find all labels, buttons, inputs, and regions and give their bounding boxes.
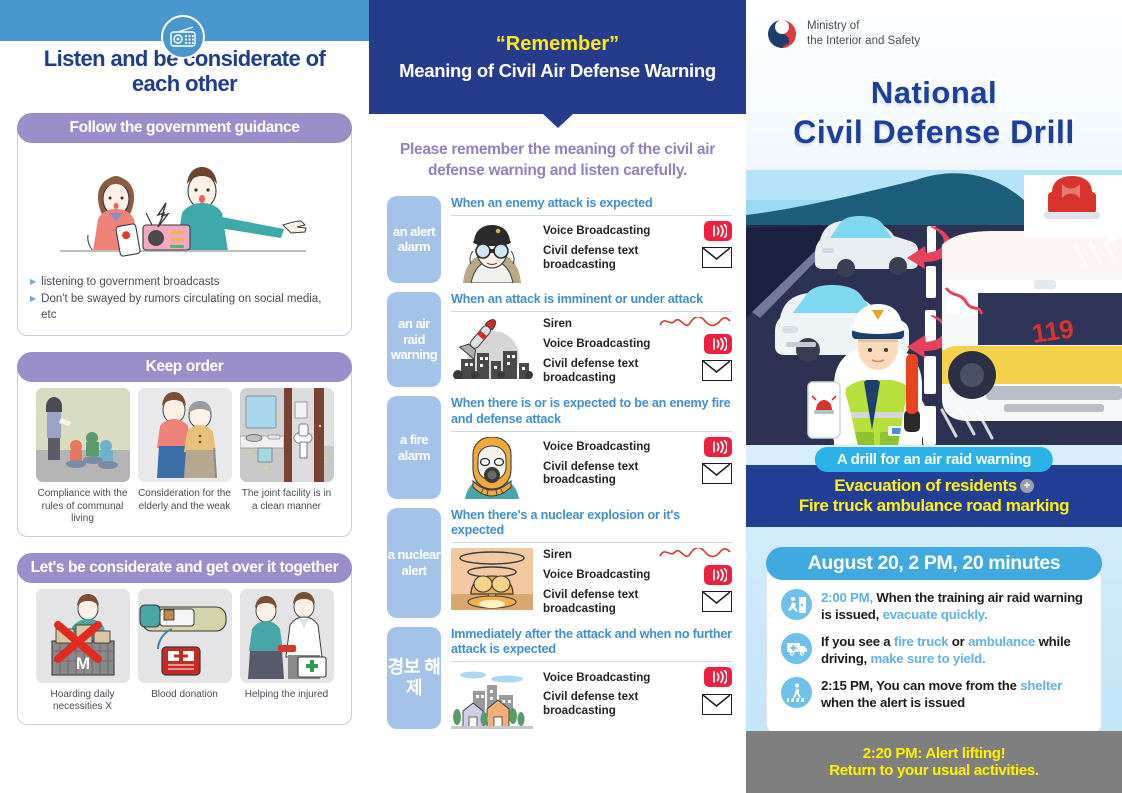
card-government-guidance: Follow the government guidance — [17, 113, 352, 337]
method-label: Voice Broadcasting — [543, 337, 698, 351]
person-in-gas-mask-illustration — [451, 437, 533, 499]
schedule-highlight: make sure to yield. — [871, 651, 986, 666]
image-caption: The joint facility is in a clean manner — [240, 488, 334, 513]
footer-line2: Return to your usual activities. — [829, 762, 1039, 779]
warning-type-chip: an alert alarm — [387, 196, 441, 283]
right-panel-title: National Civil Defense Drill — [746, 75, 1122, 151]
list-item: M Hoarding daily necessities X — [36, 589, 130, 714]
warning-type-chip: a fire alarm — [387, 396, 441, 498]
panel-drill-announcement: Ministry of the Interior and Safety Nati… — [746, 0, 1122, 793]
table-row: an alert alarm When an enemy attack is e… — [387, 196, 732, 283]
running-exit-icon — [781, 589, 812, 620]
schedule-date-pill: August 20, 2 PM, 20 minutes — [766, 547, 1102, 580]
method-label: Civil defense text broadcasting — [543, 357, 696, 384]
list-item: ▶ listening to government broadcasts — [30, 275, 339, 291]
table-row: 경보 해제 Immediately after the attack and w… — [387, 627, 732, 729]
card-body-considerate-together: M Hoarding daily necessities X — [17, 569, 352, 725]
list-item: Compliance with the rules of communal li… — [36, 388, 130, 526]
broadcast-method-list: Siren Voice Broadcasting — [543, 317, 732, 387]
list-item: 2:00 PM, When the training air raid warn… — [781, 589, 1087, 624]
schedule-highlight: ambulance — [968, 634, 1035, 649]
schedule-text: 2:15 PM, You can move from the shelter w… — [821, 677, 1087, 712]
keep-order-image-row: Compliance with the rules of communal li… — [30, 388, 339, 526]
schedule-list: 2:00 PM, When the training air raid warn… — [766, 566, 1102, 734]
card-header-keep-order: Keep order — [17, 352, 352, 382]
method-label: Voice Broadcasting — [543, 671, 698, 685]
card-keep-order: Keep order — [17, 352, 352, 537]
police-officer-directing-traffic-for-ambulance-illustration: 119 — [746, 170, 1122, 445]
schedule-highlight: 2:00 PM, — [821, 590, 873, 605]
card-body-government-guidance: ▶ listening to government broadcasts ▶ D… — [17, 129, 352, 337]
considerate-image-row: M Hoarding daily necessities X — [30, 589, 339, 714]
list-item: Voice Broadcasting — [543, 221, 732, 241]
doctor-treating-injured-illustration — [240, 589, 334, 683]
right-title-line2: Civil Defense Drill — [746, 114, 1122, 151]
plus-icon: + — [1020, 479, 1034, 493]
broadcast-method-list: Siren Voice Broadcasting — [543, 548, 732, 618]
left-panel-title-line2: each other — [16, 71, 353, 96]
middle-header-line2: Meaning of Civil Air Defense Warning — [399, 60, 716, 82]
voice-broadcast-icon — [704, 334, 732, 354]
list-item: Siren — [543, 317, 732, 331]
middle-panel-header: “Remember” Meaning of Civil Air Defense … — [369, 0, 746, 114]
middle-header-line1: “Remember” — [496, 33, 619, 56]
warning-condition-title: When an attack is imminent or under atta… — [451, 292, 732, 312]
envelope-icon — [702, 591, 732, 612]
warning-type-chip: a nuclear alert — [387, 508, 441, 619]
warning-condition-title: Immediately after the attack and when no… — [451, 627, 732, 662]
method-label: Voice Broadcasting — [543, 440, 698, 454]
list-item: Voice Broadcasting — [543, 667, 732, 687]
ministry-line1: Ministry of — [807, 19, 920, 34]
envelope-icon — [702, 694, 732, 715]
image-caption: Compliance with the rules of communal li… — [36, 488, 130, 526]
helping-elderly-woman-illustration — [138, 388, 232, 482]
schedule-highlight: evacuate quickly. — [883, 607, 988, 622]
image-caption: Consideration for the elderly and the we… — [138, 488, 232, 513]
pedestrian-crossing-icon — [781, 677, 812, 708]
list-item: Siren — [543, 548, 732, 562]
drill-activities-banner: Evacuation of residents + Fire truck amb… — [746, 465, 1122, 527]
card-header-considerate-together: Let's be considerate and get over it tog… — [17, 553, 352, 583]
siren-wave-icon — [658, 548, 732, 562]
peaceful-town-skyline-illustration — [451, 667, 533, 729]
warning-type-chip: an air raid warning — [387, 292, 441, 387]
drill-activity-text1: Evacuation of residents — [834, 476, 1017, 496]
table-row: a nuclear alert When there's a nuclear e… — [387, 508, 732, 619]
svg-text:M: M — [75, 654, 89, 673]
table-row: a fire alarm When there is or is expecte… — [387, 396, 732, 498]
method-label: Civil defense text broadcasting — [543, 244, 696, 271]
schedule-card: August 20, 2 PM, 20 minutes 2:0 — [766, 547, 1102, 734]
ambulance-icon — [781, 633, 812, 664]
panel-air-defense-warnings: “Remember” Meaning of Civil Air Defense … — [369, 0, 746, 793]
list-item: If you see a fire truck or ambulance whi… — [781, 633, 1087, 668]
korea-government-taegeuk-logo — [766, 18, 798, 50]
schedule-highlight: shelter — [1020, 678, 1062, 693]
card-body-keep-order: Compliance with the rules of communal li… — [17, 368, 352, 537]
list-item: Helping the injured — [240, 589, 334, 714]
panel-shelter-etiquette: Once you've been evacuated to the shelte… — [0, 0, 369, 793]
ministry-logo-text: Ministry of the Interior and Safety — [807, 19, 920, 49]
list-item: ▶ Don't be swayed by rumors circulating … — [30, 292, 339, 323]
envelope-icon — [702, 360, 732, 381]
header-arrow-icon — [542, 113, 574, 128]
ministry-logo-block: Ministry of the Interior and Safety — [766, 18, 920, 50]
voice-broadcast-icon — [704, 221, 732, 241]
image-caption: Blood donation — [138, 689, 232, 702]
warning-condition-title: When there is or is expected to be an en… — [451, 396, 732, 431]
card-considerate-together: Let's be considerate and get over it tog… — [17, 553, 352, 725]
radio-icon — [161, 15, 205, 59]
warning-type-chip: 경보 해제 — [387, 627, 441, 729]
voice-broadcast-icon — [704, 437, 732, 457]
footer-alert-lifting: 2:20 PM: Alert lifting! Return to your u… — [746, 731, 1122, 793]
schedule-plain: or — [948, 634, 968, 649]
clean-shared-restroom-illustration — [240, 388, 334, 482]
voice-broadcast-icon — [704, 667, 732, 687]
bullet-text: Don't be swayed by rumors circulating on… — [41, 292, 339, 323]
schedule-text: 2:00 PM, When the training air raid warn… — [821, 589, 1087, 624]
nuclear-mushroom-cloud-illustration — [451, 548, 533, 610]
drill-activity-line1: Evacuation of residents + — [834, 476, 1034, 496]
method-label: Civil defense text broadcasting — [543, 690, 696, 717]
list-item: Consideration for the elderly and the we… — [138, 388, 232, 526]
envelope-icon — [702, 463, 732, 484]
method-label: Voice Broadcasting — [543, 224, 698, 238]
card-header-government-guidance: Follow the government guidance — [17, 113, 352, 143]
method-label: Civil defense text broadcasting — [543, 460, 696, 487]
schedule-plain: when the alert is issued — [821, 695, 965, 710]
list-item: Voice Broadcasting — [543, 565, 732, 585]
footer-line1: 2:20 PM: Alert lifting! — [863, 745, 1006, 762]
schedule-highlight: fire truck — [894, 634, 948, 649]
schedule-text: If you see a fire truck or ambulance whi… — [821, 633, 1087, 668]
table-row: an air raid warning When an attack is im… — [387, 292, 732, 387]
shelter-group-announcement-illustration — [36, 388, 130, 482]
list-item: Civil defense text broadcasting — [543, 460, 732, 487]
poster-root: Once you've been evacuated to the shelte… — [0, 0, 1122, 793]
list-item: 2:15 PM, You can move from the shelter w… — [781, 677, 1087, 712]
siren-wave-icon — [658, 317, 732, 331]
blood-donation-illustration — [138, 589, 232, 683]
couple-listening-to-radio-illustration — [30, 151, 339, 269]
method-label: Siren — [543, 317, 652, 331]
image-caption: Hoarding daily necessities X — [36, 689, 130, 714]
schedule-plain: If you see a — [821, 634, 894, 649]
ministry-line2: the Interior and Safety — [807, 34, 920, 49]
method-label: Civil defense text broadcasting — [543, 588, 696, 615]
drill-type-pill: A drill for an air raid warning — [815, 447, 1053, 472]
list-item: Civil defense text broadcasting — [543, 244, 732, 271]
broadcast-method-list: Voice Broadcasting Civil defense text br… — [543, 437, 732, 490]
broadcast-method-list: Voice Broadcasting Civil defense text br… — [543, 667, 732, 720]
list-item: Civil defense text broadcasting — [543, 357, 732, 384]
list-item: Civil defense text broadcasting — [543, 588, 732, 615]
warning-rows: an alert alarm When an enemy attack is e… — [369, 182, 746, 730]
list-item: The joint facility is in a clean manner — [240, 388, 334, 526]
list-item: Voice Broadcasting — [543, 334, 732, 354]
list-item: Civil defense text broadcasting — [543, 690, 732, 717]
method-label: Voice Broadcasting — [543, 568, 698, 582]
drill-activity-line2: Fire truck ambulance road marking — [799, 496, 1069, 516]
schedule-plain: 2:15 PM, You can move from the — [821, 678, 1020, 693]
warning-condition-title: When an enemy attack is expected — [451, 196, 732, 216]
triangle-bullet-icon: ▶ — [30, 275, 36, 291]
bullet-text: listening to government broadcasts — [41, 275, 219, 291]
svg-text:119: 119 — [1030, 313, 1076, 349]
right-title-line1: National — [746, 75, 1122, 111]
warning-condition-title: When there's a nuclear explosion or it's… — [451, 508, 732, 543]
method-label: Siren — [543, 548, 652, 562]
guidance-bullet-list: ▶ listening to government broadcasts ▶ D… — [30, 275, 339, 324]
image-caption: Helping the injured — [240, 689, 334, 702]
soldier-with-binoculars-illustration — [451, 221, 533, 283]
triangle-bullet-icon: ▶ — [30, 292, 36, 323]
voice-broadcast-icon — [704, 565, 732, 585]
list-item: Voice Broadcasting — [543, 437, 732, 457]
missile-over-city-illustration — [451, 317, 533, 379]
list-item: Blood donation — [138, 589, 232, 714]
hoarding-cart-crossed-out-illustration: M — [36, 589, 130, 683]
broadcast-method-list: Voice Broadcasting Civil defense text br… — [543, 221, 732, 274]
envelope-icon — [702, 247, 732, 268]
